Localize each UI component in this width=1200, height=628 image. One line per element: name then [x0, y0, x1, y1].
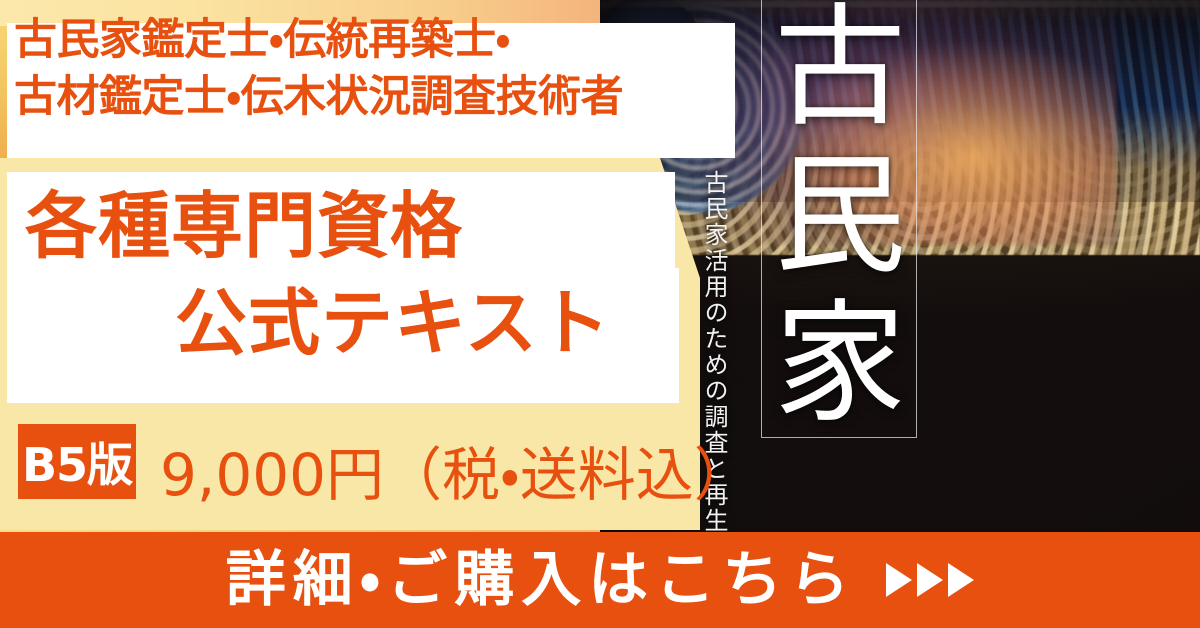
chevron-right-icon-1: [886, 563, 912, 597]
chevron-right-icon-3: [948, 563, 974, 597]
headline-panel-lower: [7, 268, 679, 403]
certifications-line-1: 古民家鑑定士・伝統再築士・: [14, 12, 728, 69]
format-badge-b5: B5版: [18, 424, 136, 499]
certifications-text: 古民家鑑定士・伝統再築士・ 古材鑑定士・伝木状況調査技術者: [14, 12, 728, 126]
cta-arrows: [886, 563, 974, 597]
cta-bar[interactable]: 詳細・ご購入はこちら: [0, 532, 1200, 628]
cta-label: 詳細・ご購入はこちら: [226, 550, 856, 610]
price-text: 9,000円（税・送料込）: [160, 428, 752, 512]
chevron-right-icon-2: [917, 563, 943, 597]
promo-banner: 古 民 家 伝統構法、古民家活用のための調査と再生の 古民家鑑定士・伝統再築士・…: [0, 0, 1200, 628]
certifications-line-2: 古材鑑定士・伝木状況調査技術者: [14, 69, 728, 126]
